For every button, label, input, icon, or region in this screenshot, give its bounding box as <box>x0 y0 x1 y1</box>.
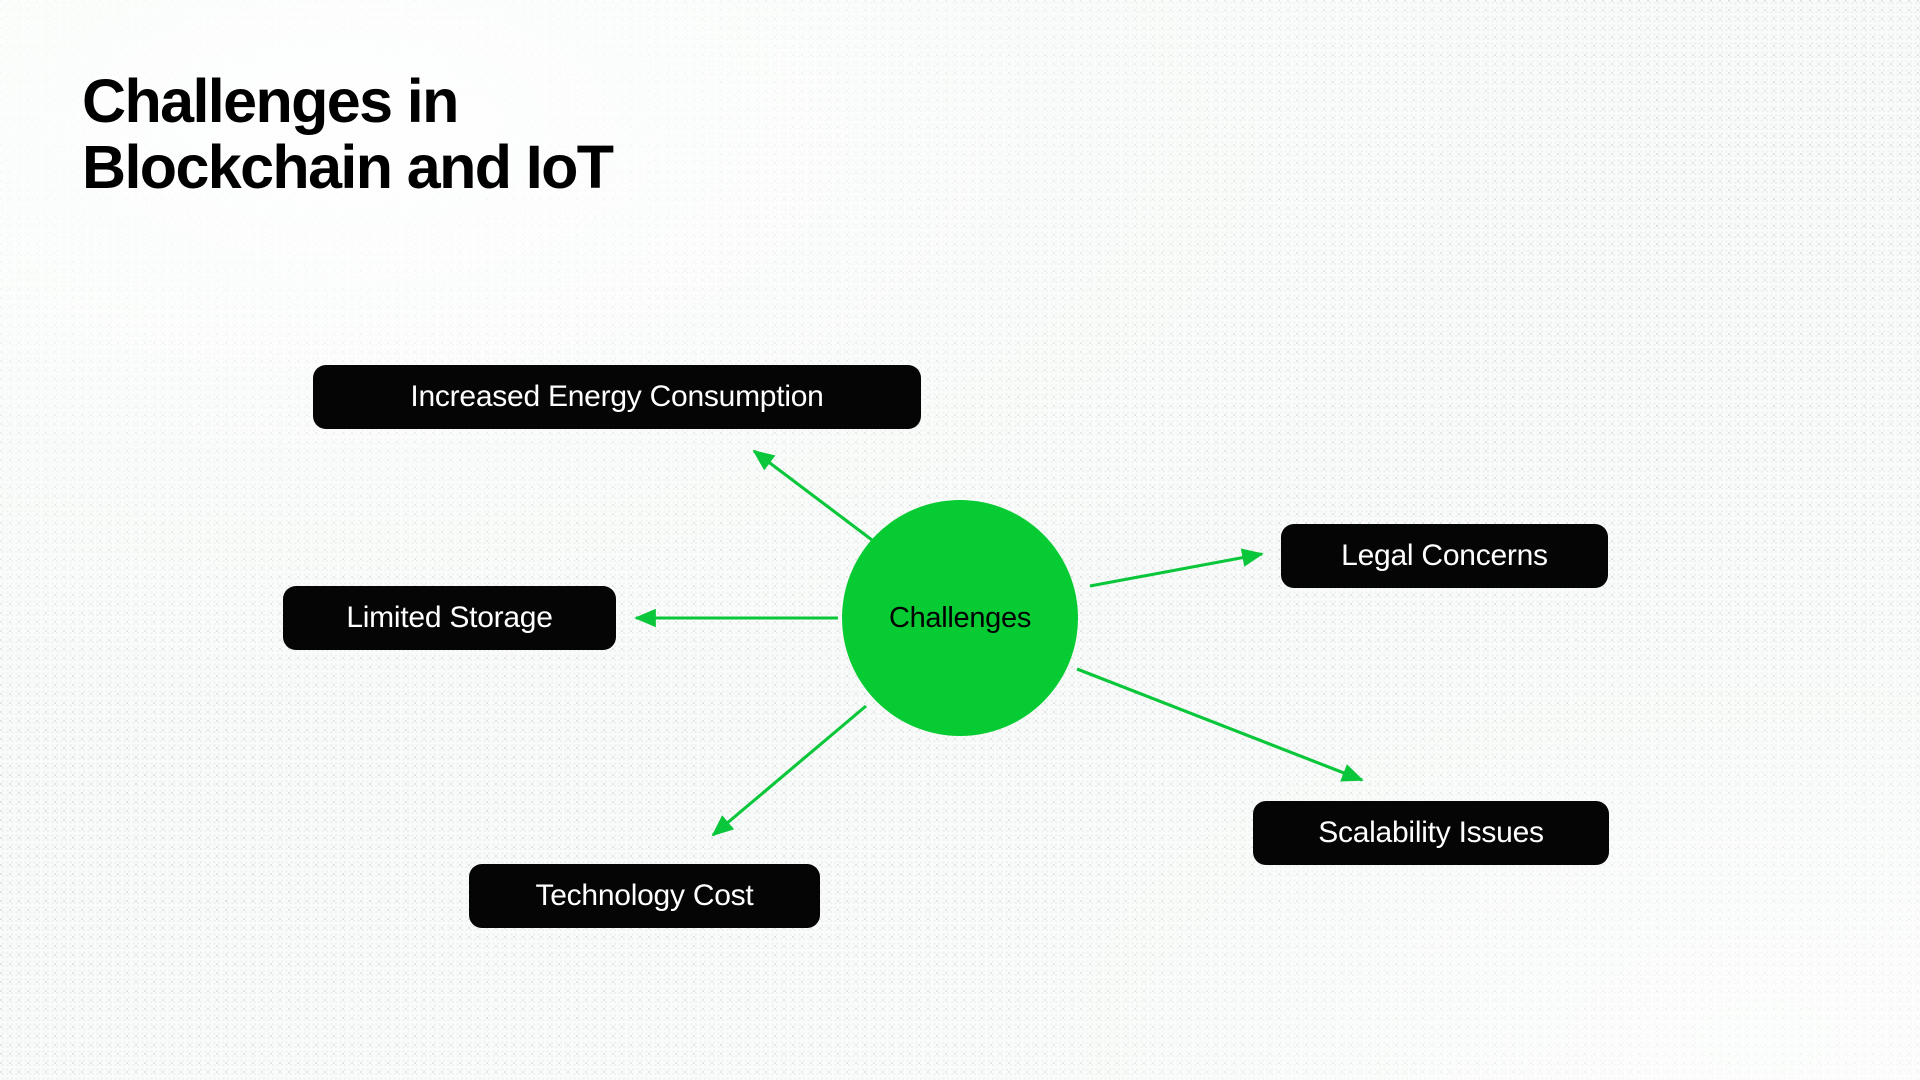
center-node-challenges[interactable]: Challenges <box>842 500 1078 736</box>
connector-to-scalability <box>1077 669 1362 780</box>
page-title-line2: Blockchain and IoT <box>82 133 612 201</box>
slide-canvas: Challenges inBlockchain and IoT Challeng… <box>0 0 1920 1080</box>
center-node-label: Challenges <box>889 604 1031 633</box>
connector-to-legal <box>1090 554 1262 586</box>
page-title: Challenges inBlockchain and IoT <box>82 68 882 201</box>
branch-label-legal-text: Legal Concerns <box>1341 541 1548 571</box>
branch-label-scalability-text: Scalability Issues <box>1318 818 1544 848</box>
branch-label-legal[interactable]: Legal Concerns <box>1281 524 1608 588</box>
branch-label-energy[interactable]: Increased Energy Consumption <box>313 365 921 429</box>
connector-to-energy <box>754 451 872 540</box>
branch-label-storage[interactable]: Limited Storage <box>283 586 616 650</box>
connector-to-technology <box>713 706 866 835</box>
branch-label-energy-text: Increased Energy Consumption <box>410 382 823 412</box>
branch-label-storage-text: Limited Storage <box>346 603 552 633</box>
branch-label-technology-text: Technology Cost <box>535 881 753 911</box>
branch-label-scalability[interactable]: Scalability Issues <box>1253 801 1609 865</box>
branch-label-technology[interactable]: Technology Cost <box>469 864 820 928</box>
page-title-line1: Challenges in <box>82 67 458 135</box>
